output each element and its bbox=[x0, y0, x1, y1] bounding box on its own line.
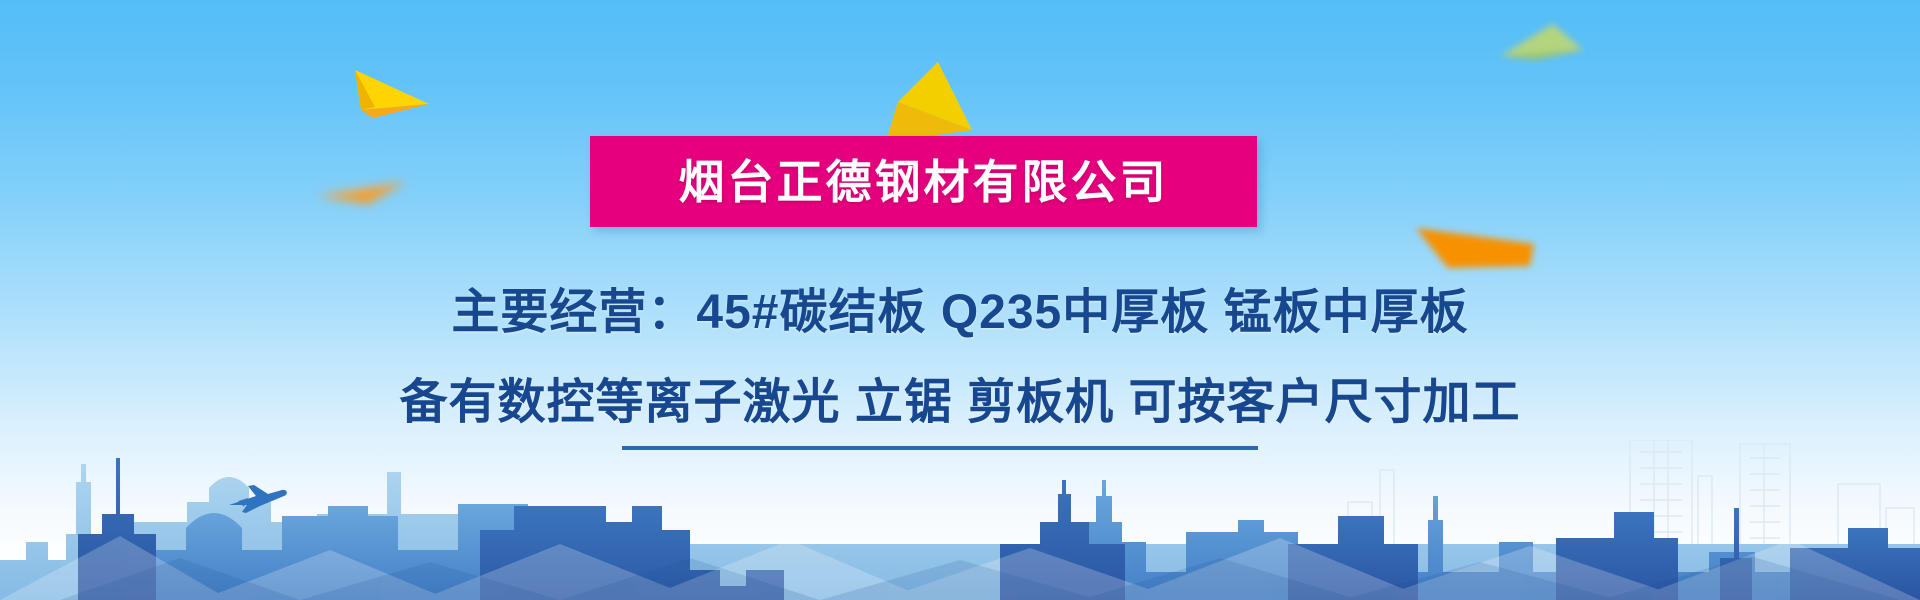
orange-paper-plane-left-icon bbox=[316, 166, 412, 206]
headline-services: 备有数控等离子激光 立锯 剪板机 可按客户尺寸加工 bbox=[0, 362, 1920, 432]
yellow-paper-plane-left-icon bbox=[351, 60, 433, 122]
company-title-text: 烟台正德钢材有限公司 bbox=[679, 159, 1169, 205]
divider-rule bbox=[622, 446, 1258, 450]
promo-banner: 烟台正德钢材有限公司 主要经营：45#碳结板 Q235中厚板 锰板中厚板 备有数… bbox=[0, 0, 1920, 600]
airplane-icon bbox=[226, 482, 290, 516]
yellow-paper-plane-center-icon bbox=[860, 58, 978, 148]
orange-paper-plane-right-icon bbox=[1412, 218, 1542, 274]
headline-products: 主要经营：45#碳结板 Q235中厚板 锰板中厚板 bbox=[0, 272, 1920, 342]
green-paper-plane-right-icon bbox=[1495, 18, 1591, 68]
city-skyline bbox=[0, 440, 1920, 600]
company-title-plate: 烟台正德钢材有限公司 bbox=[590, 136, 1257, 227]
